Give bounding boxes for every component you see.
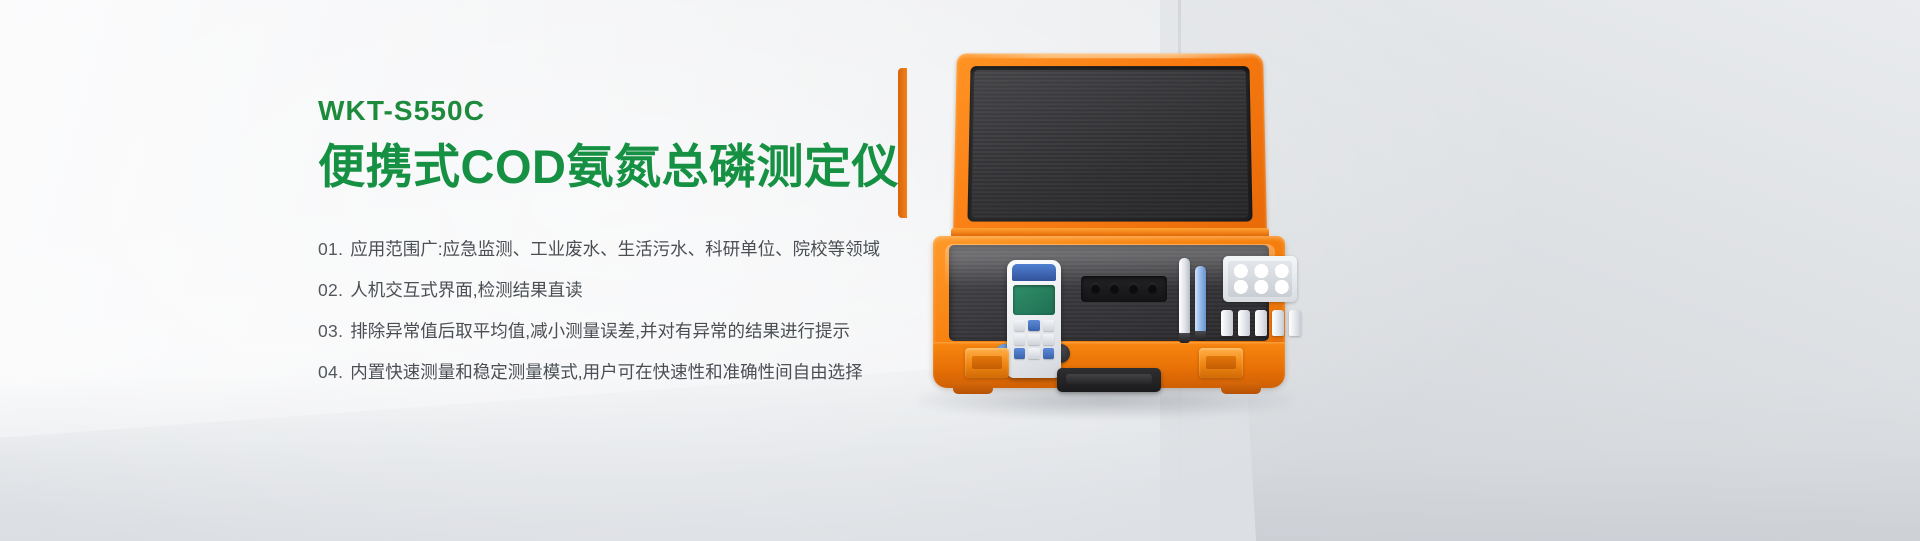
reagent-vial [1238, 310, 1250, 336]
meter-keypad [1014, 320, 1054, 372]
case-lid [953, 53, 1267, 232]
meter-key [1043, 348, 1054, 359]
lid-side-left [898, 68, 907, 218]
cuvette-slot [1128, 283, 1139, 294]
feature-text: 应用范围广:应急监测、工业废水、生活污水、科研单位、院校等领域 [350, 239, 880, 261]
feature-text: 人机交互式界面,检测结果直读 [350, 280, 582, 302]
feature-number: 04. [318, 362, 343, 384]
meter-key [1043, 334, 1054, 345]
reagent-vial [1255, 310, 1267, 336]
meter-key [1014, 334, 1025, 345]
meter-key [1014, 348, 1025, 359]
meter-key [1028, 320, 1039, 331]
reagent-vial [1289, 310, 1301, 336]
lid-edge-highlight [957, 53, 1263, 58]
reagent-vial [1272, 310, 1284, 336]
feature-number: 01. [318, 239, 343, 261]
probe-tip [1195, 331, 1206, 341]
pipette-tip [1179, 333, 1190, 343]
pipette [1179, 258, 1190, 334]
meter-display [1013, 285, 1055, 315]
reagent-vial [1221, 310, 1233, 336]
feature-number: 03. [318, 321, 343, 343]
meter-key [1028, 334, 1039, 345]
case-latch [1199, 348, 1243, 378]
case-latch [965, 348, 1009, 378]
reagent-cap-tray [1223, 256, 1297, 302]
cuvette-slot [1090, 283, 1101, 294]
lid-foam [972, 70, 1249, 217]
meter-top-cap [1012, 264, 1056, 281]
reagent-vial-row [1221, 310, 1301, 336]
product-banner: WKT-S550C 便携式COD氨氮总磷测定仪 01. 应用范围广:应急监测、工… [0, 0, 1920, 541]
handheld-meter [1007, 260, 1061, 378]
cuvette-slot-strip [1081, 276, 1167, 302]
feature-text: 排除异常值后取平均值,减小测量误差,并对有异常的结果进行提示 [350, 321, 850, 343]
feature-number: 02. [318, 280, 343, 302]
carry-handle [1057, 368, 1161, 392]
meter-key [1014, 320, 1025, 331]
cuvette-slot [1109, 283, 1120, 294]
case-foot [1221, 382, 1261, 394]
feature-text: 内置快速测量和稳定测量模式,用户可在快速性和准确性间自由选择 [350, 362, 862, 384]
probe [1195, 266, 1206, 332]
case-foot [953, 382, 993, 394]
meter-key [1028, 348, 1039, 359]
meter-key [1043, 320, 1054, 331]
lid-inner [967, 66, 1252, 221]
cuvette-slot [1147, 283, 1158, 294]
product-image [905, 52, 1305, 407]
